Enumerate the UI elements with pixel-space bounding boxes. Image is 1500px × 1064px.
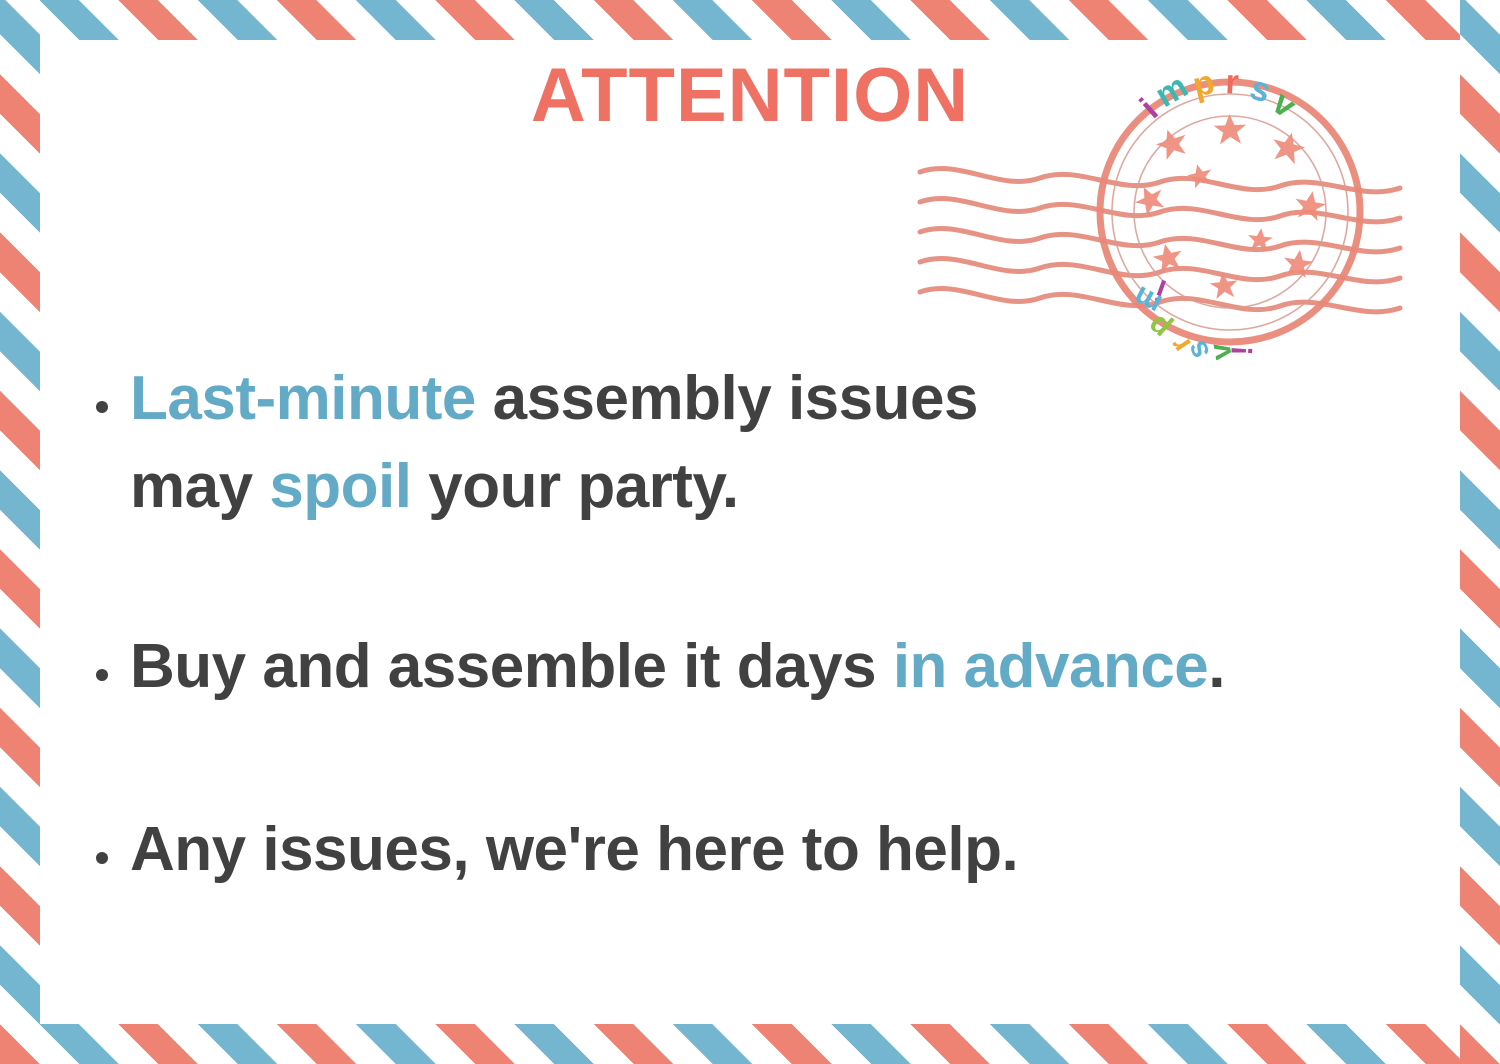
- airmail-border-right: [1460, 0, 1500, 1064]
- stamp-letter-bottom-excl: !: [1226, 345, 1259, 356]
- bullet-2-line-1-seg-2: in advance: [893, 632, 1208, 701]
- bullet-dot-icon: [96, 401, 108, 413]
- stamp-letter-p: p: [1189, 63, 1218, 105]
- list-item-line: Any issues, we're here to help.: [130, 806, 1466, 894]
- airmail-border-bottom: [0, 1024, 1500, 1064]
- list-item: Any issues, we're here to help.: [96, 806, 1466, 894]
- list-item-text: Last-minute assembly issues may spoil yo…: [130, 355, 1466, 531]
- list-item: Last-minute assembly issues may spoil yo…: [96, 355, 1466, 531]
- stamp-letter-r: r: [1225, 63, 1240, 102]
- bullet-1-line-2-seg-1: may: [130, 452, 269, 521]
- bullet-1-line-2-seg-3: your party.: [412, 452, 739, 521]
- airmail-border-left: [0, 0, 40, 1064]
- bullet-2-line-1-seg-3: .: [1208, 632, 1225, 701]
- bullet-3-line-1-seg-1: Any issues, we're here to help.: [130, 815, 1018, 884]
- bullet-dot-icon: [96, 669, 108, 681]
- bullet-1-line-1-seg-1: Last-minute: [130, 364, 493, 433]
- list-item-line: Last-minute assembly issues: [130, 355, 1466, 443]
- list-item: Buy and assemble it days in advance.: [96, 623, 1466, 711]
- list-item-line: may spoil your party.: [130, 443, 1466, 531]
- bullet-2-line-1-seg-1: Buy and assemble it days: [130, 632, 893, 701]
- stamp-brand-bottom-text: i m p r s v !: [1128, 273, 1259, 360]
- postmark-stamp: i m p r s v i m p r s v !: [900, 60, 1430, 360]
- bullet-dot-icon: [96, 852, 108, 864]
- bullet-1-line-1-seg-2: assembly issues: [493, 364, 978, 433]
- list-item-text: Buy and assemble it days in advance.: [130, 623, 1466, 711]
- bullet-1-line-2-seg-2: spoil: [269, 452, 411, 521]
- bullet-list: Last-minute assembly issues may spoil yo…: [96, 355, 1466, 894]
- attention-card: ATTENTION: [0, 0, 1500, 1064]
- airmail-border-top: [0, 0, 1500, 40]
- list-item-text: Any issues, we're here to help.: [130, 806, 1466, 894]
- list-item-line: Buy and assemble it days in advance.: [130, 623, 1466, 711]
